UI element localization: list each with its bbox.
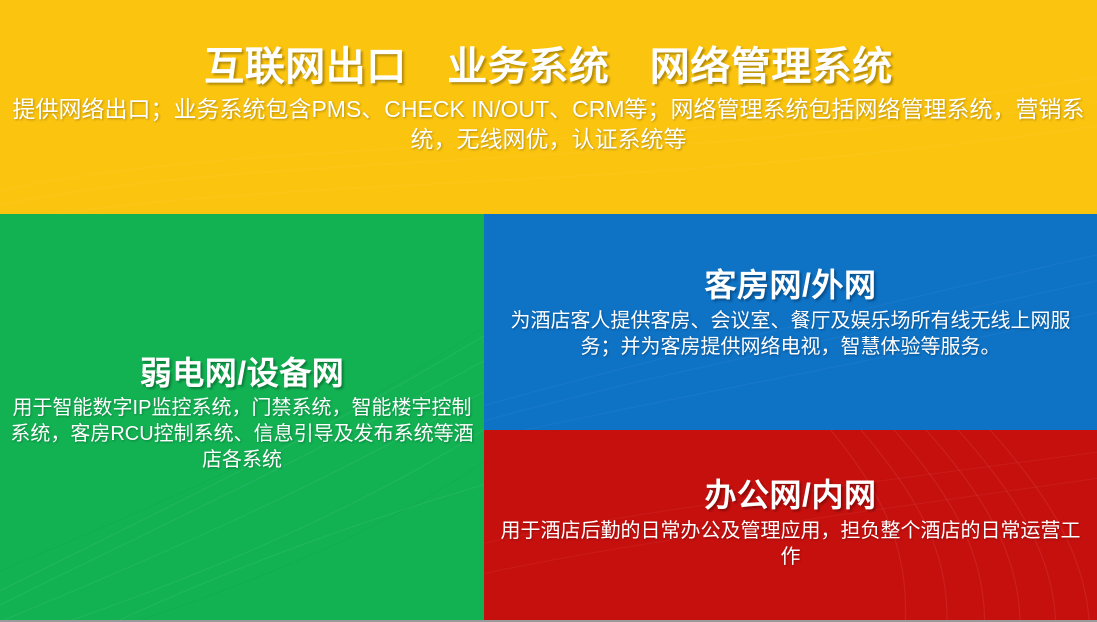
green-panel-content: 弱电网/设备网 用于智能数字IP监控系统，门禁系统，智能楼宇控制系统，客房RCU… [0,214,484,473]
red-panel-title: 办公网/内网 [494,478,1087,513]
red-panel-content: 办公网/内网 用于酒店后勤的日常办公及管理应用，担负整个酒店的日常运营工作 [484,430,1097,570]
banner-title: 互联网出口 业务系统 网络管理系统 [2,46,1095,89]
panel-guestroom-network: 客房网/外网 为酒店客人提供客房、会议室、餐厅及娱乐场所有线无线上网服务；并为客… [484,214,1097,430]
panel-office-network: 办公网/内网 用于酒店后勤的日常办公及管理应用，担负整个酒店的日常运营工作 [484,430,1097,620]
panel-internet-egress: 互联网出口 业务系统 网络管理系统 提供网络出口；业务系统包含PMS、CHECK… [0,0,1097,214]
network-zones-slide: 互联网出口 业务系统 网络管理系统 提供网络出口；业务系统包含PMS、CHECK… [0,0,1097,622]
green-panel-title: 弱电网/设备网 [6,356,478,391]
green-panel-body: 用于智能数字IP监控系统，门禁系统，智能楼宇控制系统，客房RCU控制系统、信息引… [6,395,478,473]
red-panel-body: 用于酒店后勤的日常办公及管理应用，担负整个酒店的日常运营工作 [494,518,1087,570]
panel-device-network: 弱电网/设备网 用于智能数字IP监控系统，门禁系统，智能楼宇控制系统，客房RCU… [0,214,484,620]
blue-panel-title: 客房网/外网 [494,268,1087,303]
banner-content: 互联网出口 业务系统 网络管理系统 提供网络出口；业务系统包含PMS、CHECK… [0,0,1097,155]
blue-panel-content: 客房网/外网 为酒店客人提供客房、会议室、餐厅及娱乐场所有线无线上网服务；并为客… [484,214,1097,360]
blue-panel-body: 为酒店客人提供客房、会议室、餐厅及娱乐场所有线无线上网服务；并为客房提供网络电视… [494,308,1087,360]
banner-body: 提供网络出口；业务系统包含PMS、CHECK IN/OUT、CRM等；网络管理系… [2,95,1095,155]
